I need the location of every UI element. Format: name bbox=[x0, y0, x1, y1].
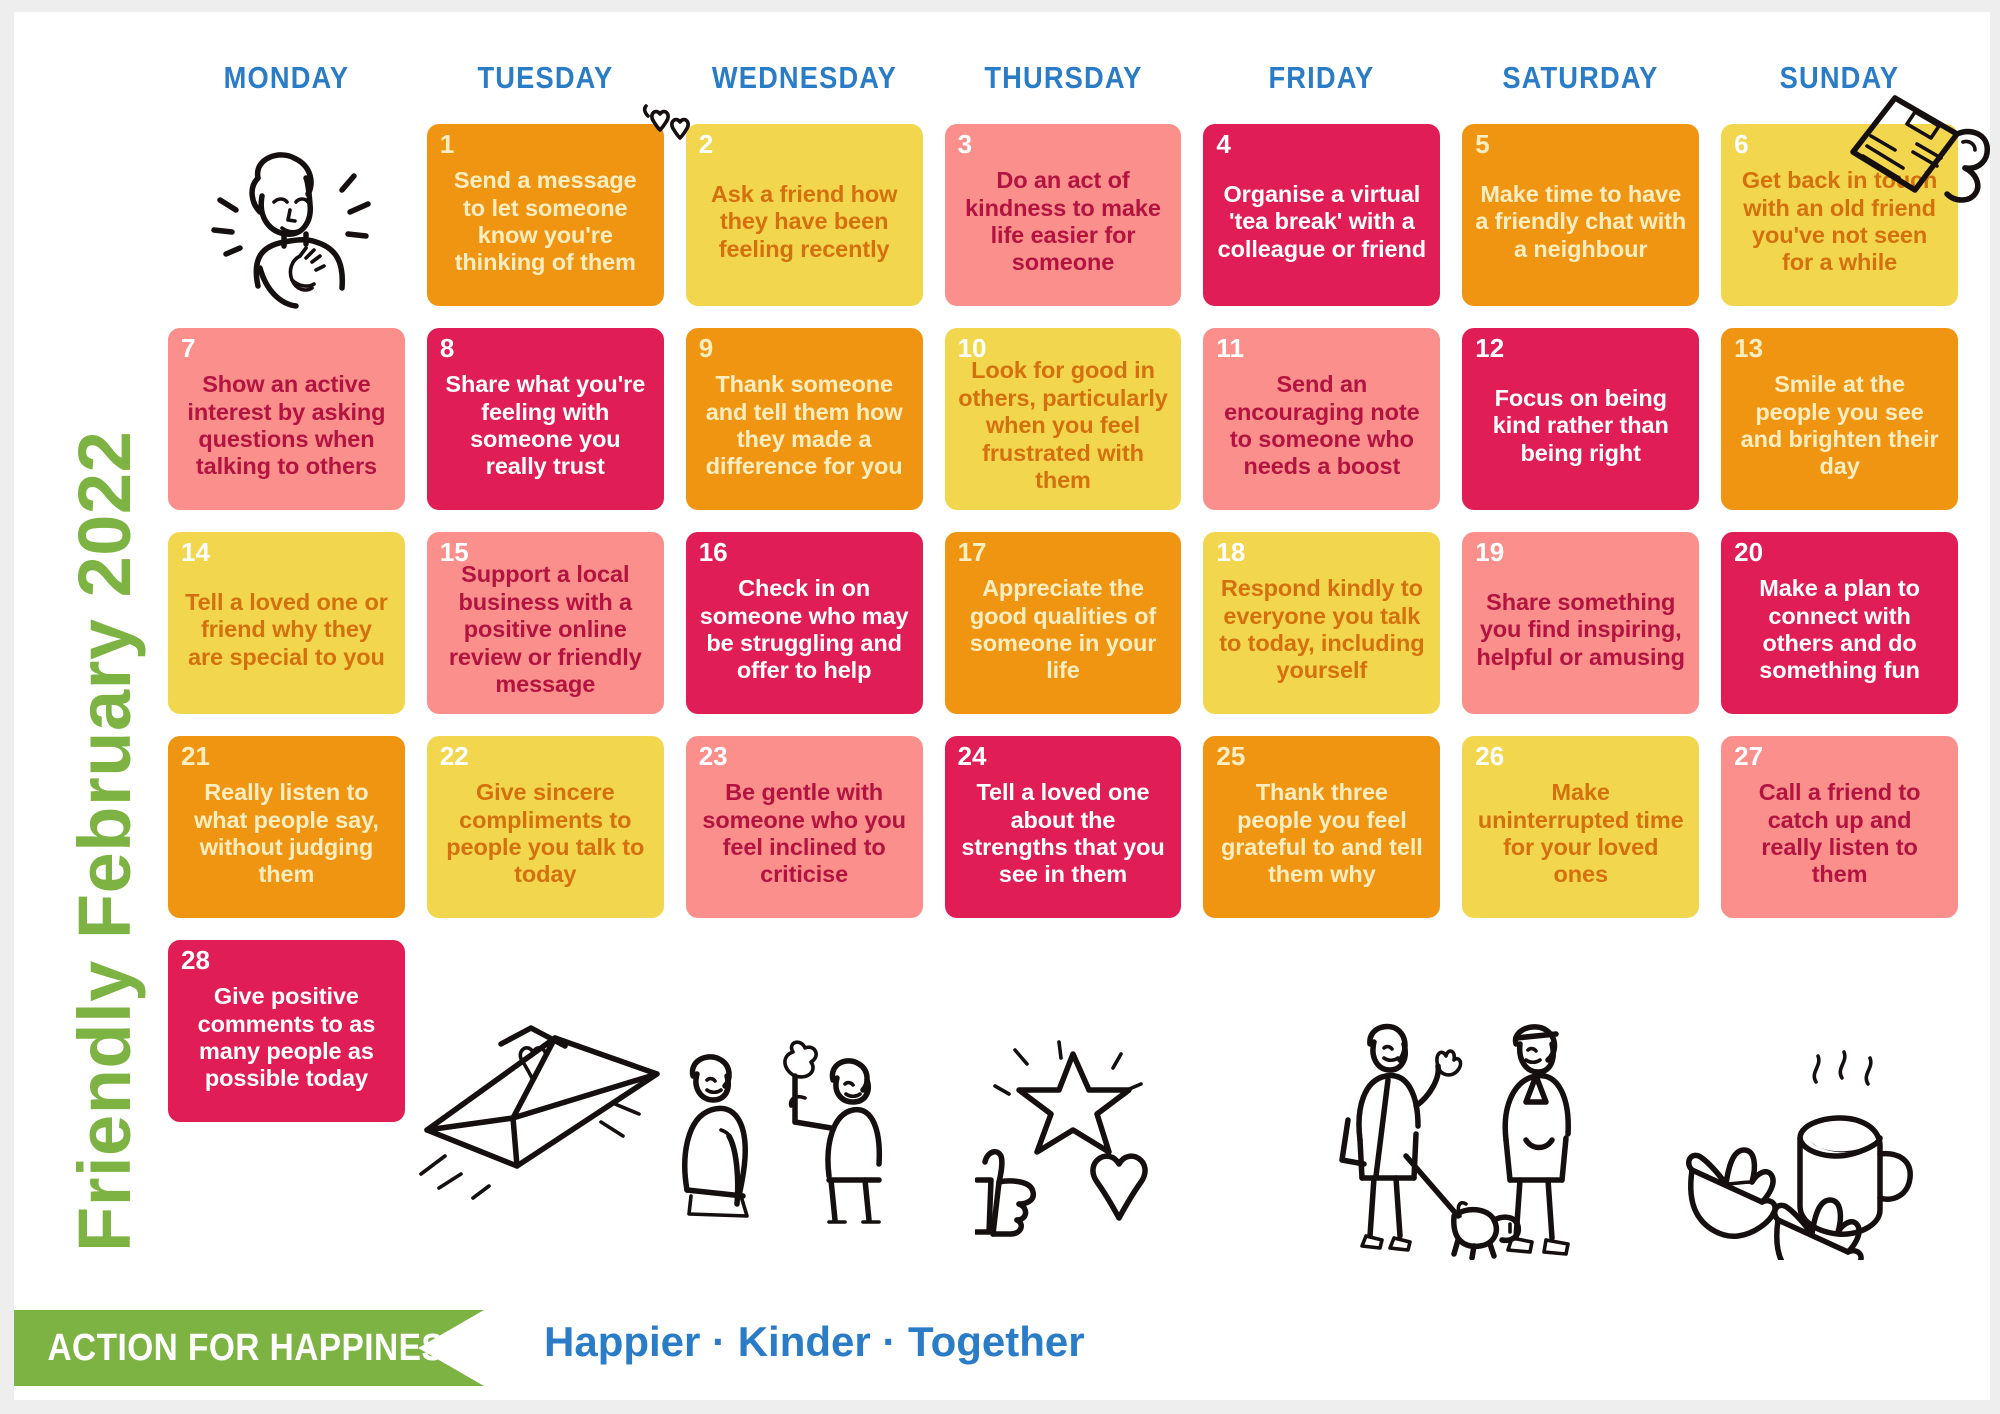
day-header-row: MONDAY TUESDAY WEDNESDAY THURSDAY FRIDAY… bbox=[168, 56, 1958, 112]
calendar-day-1[interactable]: 1Send a message to let someone know you'… bbox=[427, 124, 664, 306]
day-action-text: Send an encouraging note to someone who … bbox=[1212, 357, 1431, 483]
calendar-day-13[interactable]: 13Smile at the people you see and bright… bbox=[1721, 328, 1958, 510]
day-number: 20 bbox=[1734, 539, 1763, 565]
day-number: 28 bbox=[181, 947, 210, 973]
calendar-grid-wrapper: MONDAY TUESDAY WEDNESDAY THURSDAY FRIDAY… bbox=[168, 56, 1958, 1306]
calendar-day-16[interactable]: 16Check in on someone who may be struggl… bbox=[686, 532, 923, 714]
calendar-grid: 1Send a message to let someone know you'… bbox=[168, 124, 1958, 1122]
brand-banner: ACTION FOR HAPPINESS bbox=[14, 1310, 484, 1386]
day-action-text: Smile at the people you see and brighten… bbox=[1730, 357, 1949, 483]
calendar-day-6[interactable]: 6Get back in touch with an old friend yo… bbox=[1721, 124, 1958, 306]
day-header-tuesday: TUESDAY bbox=[441, 56, 649, 112]
day-number: 5 bbox=[1475, 131, 1489, 157]
day-action-text: Focus on being kind rather than being ri… bbox=[1471, 371, 1690, 469]
calendar-cell-empty bbox=[686, 940, 923, 1122]
day-number: 6 bbox=[1734, 131, 1748, 157]
day-action-text: Tell a loved one or friend why they are … bbox=[177, 575, 396, 673]
day-action-text: Respond kindly to everyone you talk to t… bbox=[1212, 561, 1431, 687]
brand-name: ACTION FOR HAPPINESS bbox=[14, 1327, 467, 1370]
calendar-cell-empty bbox=[1721, 940, 1958, 1122]
day-number: 2 bbox=[699, 131, 713, 157]
calendar-cell-empty bbox=[945, 940, 1182, 1122]
calendar-day-3[interactable]: 3Do an act of kindness to make life easi… bbox=[945, 124, 1182, 306]
calendar-cell-empty bbox=[427, 940, 664, 1122]
day-action-text: Really listen to what people say, withou… bbox=[177, 765, 396, 891]
calendar-day-24[interactable]: 24Tell a loved one about the strengths t… bbox=[945, 736, 1182, 918]
day-action-text: Give sincere compliments to people you t… bbox=[436, 765, 655, 891]
day-number: 21 bbox=[181, 743, 210, 769]
day-action-text: Share what you're feeling with someone y… bbox=[436, 357, 655, 483]
calendar-day-10[interactable]: 10Look for good in others, particularly … bbox=[945, 328, 1182, 510]
day-action-text: Call a friend to catch up and really lis… bbox=[1730, 765, 1949, 891]
calendar-day-15[interactable]: 15Support a local business with a positi… bbox=[427, 532, 664, 714]
day-number: 15 bbox=[440, 539, 469, 565]
calendar-cell-empty bbox=[168, 124, 405, 306]
calendar-cell-empty bbox=[1203, 940, 1440, 1122]
day-number: 1 bbox=[440, 131, 454, 157]
day-action-text: Organise a virtual 'tea break' with a co… bbox=[1212, 167, 1431, 265]
day-action-text: Send a message to let someone know you'r… bbox=[436, 153, 655, 279]
calendar-day-21[interactable]: 21Really listen to what people say, with… bbox=[168, 736, 405, 918]
calendar-page: Friendly February 2022 MONDAY TUESDAY WE… bbox=[0, 0, 2000, 1414]
day-number: 18 bbox=[1216, 539, 1245, 565]
calendar-day-14[interactable]: 14Tell a loved one or friend why they ar… bbox=[168, 532, 405, 714]
day-number: 16 bbox=[699, 539, 728, 565]
calendar-day-17[interactable]: 17Appreciate the good qualities of someo… bbox=[945, 532, 1182, 714]
calendar-day-25[interactable]: 25Thank three people you feel grateful t… bbox=[1203, 736, 1440, 918]
calendar-day-2[interactable]: 2Ask a friend how they have been feeling… bbox=[686, 124, 923, 306]
day-number: 4 bbox=[1216, 131, 1230, 157]
day-header-thursday: THURSDAY bbox=[959, 56, 1167, 112]
day-number: 3 bbox=[958, 131, 972, 157]
footer: ACTION FOR HAPPINESS Happier · Kinder · … bbox=[14, 1310, 1990, 1386]
calendar-day-8[interactable]: 8Share what you're feeling with someone … bbox=[427, 328, 664, 510]
day-header-saturday: SATURDAY bbox=[1476, 56, 1684, 112]
day-action-text: Support a local business with a positive… bbox=[436, 547, 655, 700]
day-header-wednesday: WEDNESDAY bbox=[700, 56, 908, 112]
day-number: 24 bbox=[958, 743, 987, 769]
day-action-text: Check in on someone who may be strugglin… bbox=[695, 561, 914, 687]
day-number: 13 bbox=[1734, 335, 1763, 361]
page-title-rail: Friendly February 2022 bbox=[50, 30, 160, 1270]
day-number: 12 bbox=[1475, 335, 1504, 361]
calendar-day-9[interactable]: 9Thank someone and tell them how they ma… bbox=[686, 328, 923, 510]
day-number: 11 bbox=[1216, 335, 1244, 361]
day-number: 25 bbox=[1216, 743, 1245, 769]
calendar-day-12[interactable]: 12Focus on being kind rather than being … bbox=[1462, 328, 1699, 510]
day-action-text: Be gentle with someone who you feel incl… bbox=[695, 765, 914, 891]
day-action-text: Share something you find inspiring, help… bbox=[1471, 575, 1690, 673]
day-number: 27 bbox=[1734, 743, 1763, 769]
calendar-day-26[interactable]: 26Make uninterrupted time for your loved… bbox=[1462, 736, 1699, 918]
calendar-cell-empty bbox=[1462, 940, 1699, 1122]
day-number: 14 bbox=[181, 539, 210, 565]
calendar-day-23[interactable]: 23Be gentle with someone who you feel in… bbox=[686, 736, 923, 918]
day-number: 7 bbox=[181, 335, 195, 361]
day-number: 17 bbox=[958, 539, 987, 565]
calendar-day-7[interactable]: 7Show an active interest by asking quest… bbox=[168, 328, 405, 510]
calendar-day-5[interactable]: 5Make time to have a friendly chat with … bbox=[1462, 124, 1699, 306]
day-number: 8 bbox=[440, 335, 454, 361]
tagline: Happier · Kinder · Together bbox=[544, 1318, 1085, 1366]
day-action-text: Show an active interest by asking questi… bbox=[177, 357, 396, 483]
calendar-day-28[interactable]: 28Give positive comments to as many peop… bbox=[168, 940, 405, 1122]
day-action-text: Get back in touch with an old friend you… bbox=[1730, 153, 1949, 279]
day-action-text: Look for good in others, particularly wh… bbox=[954, 343, 1173, 496]
day-header-friday: FRIDAY bbox=[1218, 56, 1426, 112]
calendar-day-27[interactable]: 27Call a friend to catch up and really l… bbox=[1721, 736, 1958, 918]
day-number: 26 bbox=[1475, 743, 1504, 769]
calendar-day-19[interactable]: 19Share something you find inspiring, he… bbox=[1462, 532, 1699, 714]
calendar-day-18[interactable]: 18Respond kindly to everyone you talk to… bbox=[1203, 532, 1440, 714]
day-number: 22 bbox=[440, 743, 469, 769]
calendar-day-20[interactable]: 20Make a plan to connect with others and… bbox=[1721, 532, 1958, 714]
calendar-day-4[interactable]: 4Organise a virtual 'tea break' with a c… bbox=[1203, 124, 1440, 306]
calendar-day-22[interactable]: 22Give sincere compliments to people you… bbox=[427, 736, 664, 918]
day-action-text: Thank three people you feel grateful to … bbox=[1212, 765, 1431, 891]
day-header-monday: MONDAY bbox=[182, 56, 390, 112]
day-action-text: Make a plan to connect with others and d… bbox=[1730, 561, 1949, 687]
day-action-text: Do an act of kindness to make life easie… bbox=[954, 153, 1173, 279]
day-number: 19 bbox=[1475, 539, 1504, 565]
day-header-sunday: SUNDAY bbox=[1735, 56, 1943, 112]
day-action-text: Thank someone and tell them how they mad… bbox=[695, 357, 914, 483]
calendar-day-11[interactable]: 11Send an encouraging note to someone wh… bbox=[1203, 328, 1440, 510]
day-action-text: Make time to have a friendly chat with a… bbox=[1471, 167, 1690, 265]
day-number: 10 bbox=[958, 335, 987, 361]
day-action-text: Appreciate the good qualities of someone… bbox=[954, 561, 1173, 687]
day-action-text: Ask a friend how they have been feeling … bbox=[695, 167, 914, 265]
day-number: 23 bbox=[699, 743, 728, 769]
day-number: 9 bbox=[699, 335, 713, 361]
page-title: Friendly February 2022 bbox=[50, 30, 160, 1270]
day-action-text: Tell a loved one about the strengths tha… bbox=[954, 765, 1173, 891]
day-action-text: Make uninterrupted time for your loved o… bbox=[1471, 765, 1690, 891]
day-action-text: Give positive comments to as many people… bbox=[177, 969, 396, 1095]
